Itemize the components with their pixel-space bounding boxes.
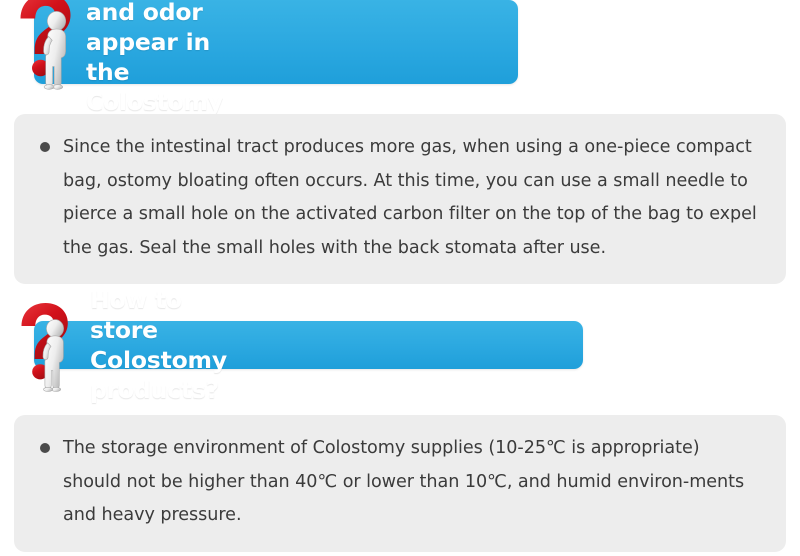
answer-text: The storage environment of Colostomy sup… [63, 432, 760, 533]
answer-panel-2: The storage environment of Colostomy sup… [14, 415, 786, 552]
faq-page: When flatulence and odor appear in the C… [0, 0, 800, 556]
answer-panel-1: Since the intestinal tract produces more… [14, 114, 786, 284]
question-title-2: How to store Colostomy products? [90, 321, 227, 369]
question-title-1: When flatulence and odor appear in the C… [86, 0, 223, 84]
answer-bullet-item: Since the intestinal tract produces more… [40, 131, 760, 265]
faq-item-1: When flatulence and odor appear in the C… [0, 0, 800, 88]
bullet-icon [40, 443, 50, 453]
faq-item-2: How to store Colostomy products? The sto… [0, 321, 800, 373]
bullet-icon [40, 142, 50, 152]
answer-bullet-item: The storage environment of Colostomy sup… [40, 432, 760, 533]
answer-text: Since the intestinal tract produces more… [63, 131, 760, 265]
